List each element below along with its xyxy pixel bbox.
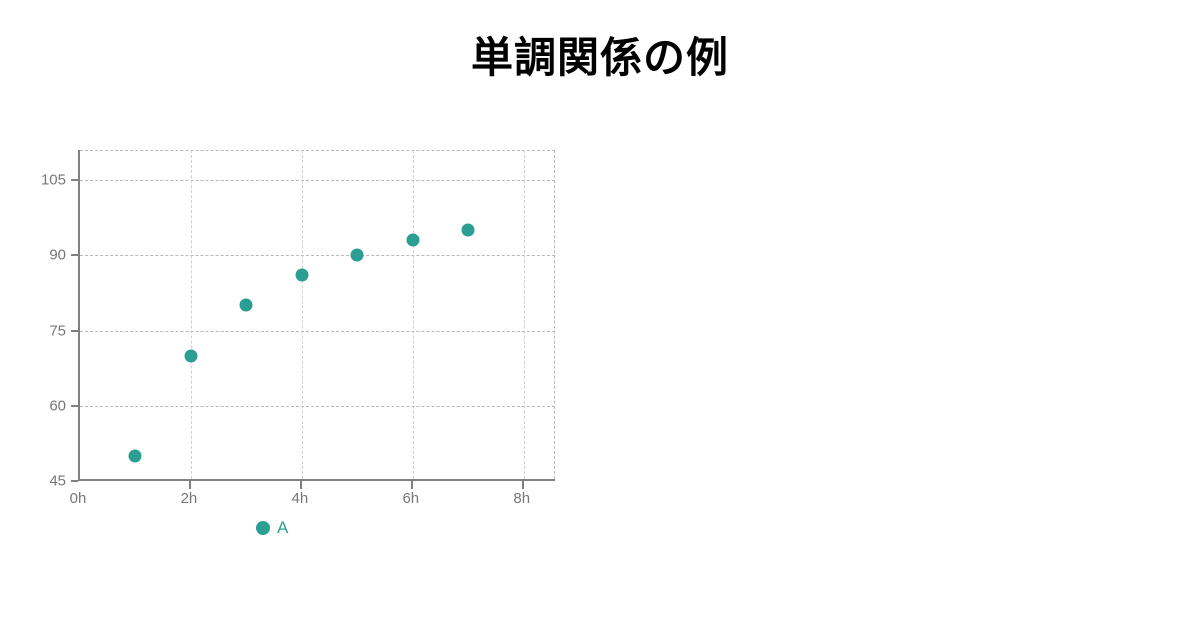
data-point[interactable] [129,449,142,462]
y-tick-label: 90 [0,247,66,264]
x-tick-label: 0h [70,490,87,507]
chart-panel-left: A 456075901050h2h4h6h8h [0,0,600,630]
y-tick-mark [71,480,78,482]
y-tick-mark [71,330,78,332]
y-tick-mark [71,179,78,181]
data-point[interactable] [351,249,364,262]
y-tick-label: 0 [580,473,1200,490]
data-point[interactable] [184,349,197,362]
y-gridline [80,255,555,256]
x-gridline [413,150,414,479]
data-point[interactable] [240,299,253,312]
data-point[interactable] [462,224,475,237]
x-tick-label: 2h [181,490,198,507]
plot-area-left [78,150,555,481]
x-tick-mark [189,481,191,489]
y-tick-label: 40 [580,175,1200,192]
legend-marker-icon [256,521,270,535]
y-tick-label: 45 [0,473,66,490]
y-tick-label: 75 [0,322,66,339]
data-point[interactable] [406,234,419,247]
legend-label[interactable]: A [277,518,288,538]
y-tick-label: 105 [0,172,66,189]
y-tick-mark [71,405,78,407]
x-tick-label: 6h [402,490,419,507]
y-tick-label: 20 [580,324,1200,341]
x-tick-label: 8h [513,490,530,507]
y-tick-label: 60 [0,397,66,414]
y-tick-label: 30 [580,249,1200,266]
x-gridline [191,150,192,479]
legend-left: A [256,518,288,538]
y-tick-label: 10 [580,398,1200,415]
y-gridline [80,331,555,332]
y-gridline [80,180,555,181]
chart-panel-right: B 0102030400h2h4h6h8h [580,0,1180,630]
x-tick-mark [411,481,413,489]
y-gridline [80,406,555,407]
x-tick-mark [522,481,524,489]
x-tick-label: 4h [292,490,309,507]
y-tick-mark [71,254,78,256]
x-tick-mark [300,481,302,489]
plot-frame-left [80,150,555,479]
x-gridline [302,150,303,479]
data-point[interactable] [295,269,308,282]
x-gridline [524,150,525,479]
